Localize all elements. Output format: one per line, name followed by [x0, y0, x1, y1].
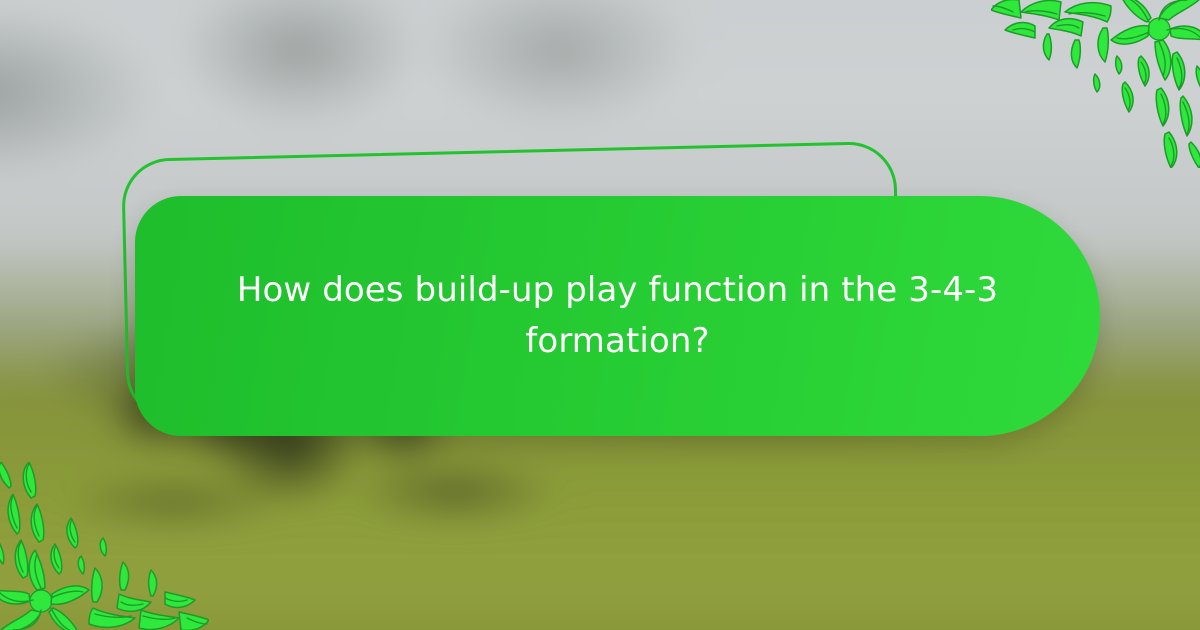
share-card-canvas: How does build-up play function in the 3…: [0, 0, 1200, 630]
question-card: How does build-up play function in the 3…: [135, 196, 1100, 436]
question-text: How does build-up play function in the 3…: [208, 265, 1028, 367]
